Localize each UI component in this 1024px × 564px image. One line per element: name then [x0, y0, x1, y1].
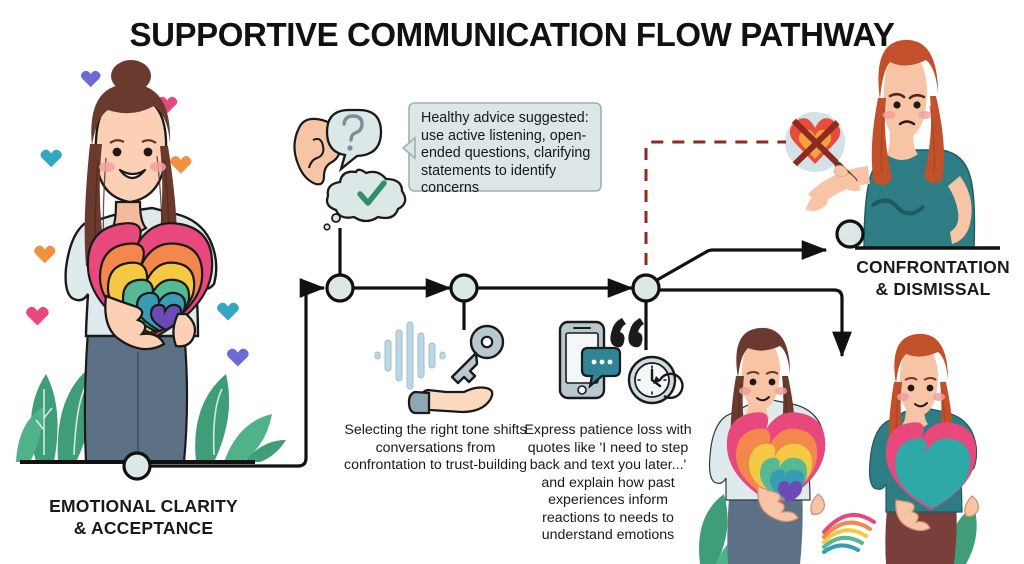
illustration-angry-woman-with-magnifier	[785, 40, 1000, 248]
icon-group-tone	[375, 322, 503, 413]
icon-group-patience	[560, 318, 682, 403]
node-patience[interactable]	[633, 275, 659, 301]
caption-patience-step: Express patience loss with quotes like '…	[522, 422, 694, 545]
sound-wave-icon	[375, 322, 445, 389]
illustration-two-women-sharing-hearts	[699, 328, 978, 564]
illustration-woman-holding-rainbow-heart	[16, 60, 286, 462]
icon-cluster-advice	[294, 110, 405, 230]
quotation-mark-icon	[610, 318, 644, 347]
label-confrontation-line1: CONFRONTATION	[842, 256, 1024, 278]
node-tone[interactable]	[451, 275, 477, 301]
key-icon	[452, 326, 503, 383]
magnifier-broken-heart-icon	[785, 112, 861, 191]
node-confrontation[interactable]	[837, 221, 863, 247]
dashed-branch-connector	[646, 142, 786, 286]
label-confrontation-line2: & DISMISSAL	[842, 278, 1024, 300]
node-listening[interactable]	[327, 275, 353, 301]
label-emotional-clarity-line1: EMOTIONAL CLARITY	[6, 495, 281, 517]
clock-history-icon	[629, 357, 682, 403]
label-emotional-clarity: EMOTIONAL CLARITY & ACCEPTANCE	[6, 495, 281, 539]
caption-tone-step: Selecting the right tone shifts conversa…	[343, 422, 528, 475]
callout-text: Healthy advice suggested: use active lis…	[421, 110, 601, 198]
label-confrontation-dismissal: CONFRONTATION & DISMISSAL	[842, 256, 1024, 300]
open-hand-icon	[409, 388, 492, 414]
rainbow-connector	[824, 515, 874, 552]
label-emotional-clarity-line2: & ACCEPTANCE	[6, 517, 281, 539]
checkmark-thought-cloud-icon	[324, 170, 405, 230]
infographic-canvas: SUPPORTIVE COMMUNICATION FLOW PATHWAY	[0, 0, 1024, 564]
node-start[interactable]	[124, 453, 150, 479]
